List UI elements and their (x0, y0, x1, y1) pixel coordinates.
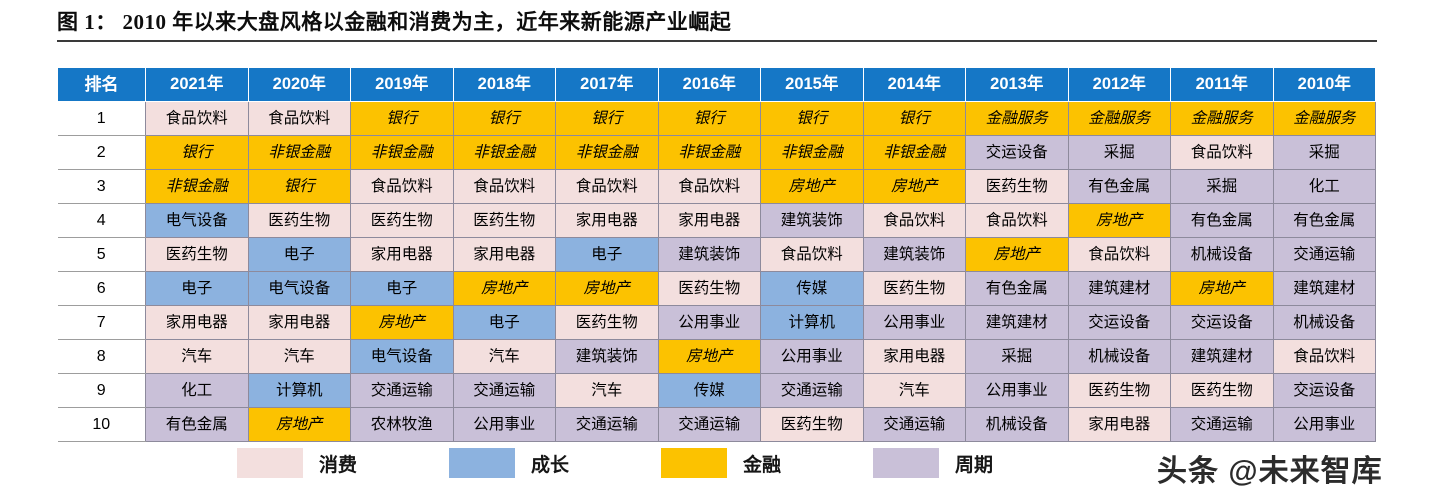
legend-item-finance: 金融 (661, 448, 781, 478)
industry-cell: 计算机 (248, 374, 351, 408)
industry-cell: 房地产 (658, 340, 761, 374)
industry-cell: 化工 (1273, 170, 1376, 204)
rank-cell-7: 7 (58, 306, 146, 340)
industry-cell: 传媒 (761, 272, 864, 306)
table-row: 9化工计算机交通运输交通运输汽车传媒交通运输汽车公用事业医药生物医药生物交运设备 (58, 374, 1376, 408)
industry-cell: 交通运输 (863, 408, 966, 442)
industry-cell: 金融服务 (1171, 102, 1274, 136)
industry-cell: 交通运输 (1273, 238, 1376, 272)
industry-cell: 交通运输 (351, 374, 454, 408)
industry-cell: 电子 (248, 238, 351, 272)
industry-cell: 食品饮料 (453, 170, 556, 204)
industry-cell: 建筑装饰 (658, 238, 761, 272)
industry-cell: 交运设备 (1171, 306, 1274, 340)
industry-cell: 电气设备 (248, 272, 351, 306)
industry-cell: 交通运输 (761, 374, 864, 408)
industry-cell: 建筑装饰 (556, 340, 659, 374)
industry-cell: 电子 (556, 238, 659, 272)
watermark: 头条 @未来智库 (1157, 446, 1383, 490)
industry-cell: 有色金属 (966, 272, 1069, 306)
rank-cell-3: 3 (58, 170, 146, 204)
industry-cell: 有色金属 (1273, 204, 1376, 238)
industry-cell: 家用电器 (248, 306, 351, 340)
industry-cell: 房地产 (1068, 204, 1171, 238)
legend-item-growth: 成长 (449, 448, 569, 478)
industry-cell: 医药生物 (248, 204, 351, 238)
industry-cell: 银行 (453, 102, 556, 136)
industry-cell: 建筑装饰 (863, 238, 966, 272)
industry-cell: 房地产 (1171, 272, 1274, 306)
industry-cell: 医药生物 (1171, 374, 1274, 408)
industry-cell: 房地产 (966, 238, 1069, 272)
industry-cell: 电子 (146, 272, 249, 306)
industry-cell: 食品饮料 (146, 102, 249, 136)
industry-cell: 公用事业 (658, 306, 761, 340)
industry-cell: 银行 (863, 102, 966, 136)
legend-label-growth: 成长 (531, 450, 569, 477)
industry-cell: 汽车 (146, 340, 249, 374)
industry-cell: 房地产 (351, 306, 454, 340)
industry-cell: 医药生物 (453, 204, 556, 238)
industry-cell: 医药生物 (658, 272, 761, 306)
industry-cell: 非银金融 (453, 136, 556, 170)
industry-cell: 房地产 (453, 272, 556, 306)
industry-cell: 房地产 (248, 408, 351, 442)
industry-cell: 计算机 (761, 306, 864, 340)
industry-cell: 化工 (146, 374, 249, 408)
industry-cell: 医药生物 (761, 408, 864, 442)
rank-cell-8: 8 (58, 340, 146, 374)
table-header: 排名2021年2020年2019年2018年2017年2016年2015年201… (58, 68, 1376, 102)
figure-container: 图 1： 2010 年以来大盘风格以金融和消费为主，近年来新能源产业崛起 排名2… (0, 0, 1433, 494)
industry-cell: 医药生物 (863, 272, 966, 306)
industry-cell: 交运设备 (1273, 374, 1376, 408)
legend-swatch-finance (661, 448, 727, 478)
industry-cell: 食品饮料 (863, 204, 966, 238)
legend-label-cycle: 周期 (955, 450, 993, 477)
industry-cell: 医药生物 (1068, 374, 1171, 408)
column-header-year-2020: 2020年 (248, 68, 351, 102)
column-header-year-2018: 2018年 (453, 68, 556, 102)
column-header-year-2017: 2017年 (556, 68, 659, 102)
industry-cell: 公用事业 (453, 408, 556, 442)
industry-cell: 机械设备 (1171, 238, 1274, 272)
industry-cell: 传媒 (658, 374, 761, 408)
industry-cell: 非银金融 (863, 136, 966, 170)
industry-cell: 银行 (556, 102, 659, 136)
industry-cell: 家用电器 (556, 204, 659, 238)
industry-cell: 医药生物 (146, 238, 249, 272)
column-header-year-2010: 2010年 (1273, 68, 1376, 102)
industry-cell: 公用事业 (863, 306, 966, 340)
industry-cell: 汽车 (556, 374, 659, 408)
industry-cell: 食品饮料 (761, 238, 864, 272)
rank-cell-4: 4 (58, 204, 146, 238)
industry-cell: 食品饮料 (966, 204, 1069, 238)
industry-cell: 交通运输 (453, 374, 556, 408)
column-header-year-2021: 2021年 (146, 68, 249, 102)
industry-cell: 交通运输 (556, 408, 659, 442)
industry-cell: 家用电器 (863, 340, 966, 374)
industry-cell: 交运设备 (1068, 306, 1171, 340)
industry-cell: 非银金融 (761, 136, 864, 170)
table-header-row: 排名2021年2020年2019年2018年2017年2016年2015年201… (58, 68, 1376, 102)
industry-cell: 建筑建材 (1273, 272, 1376, 306)
industry-cell: 食品饮料 (658, 170, 761, 204)
industry-cell: 采掘 (1068, 136, 1171, 170)
industry-cell: 有色金属 (1171, 204, 1274, 238)
legend-item-cycle: 周期 (873, 448, 993, 478)
legend: 消费成长金融周期 (237, 448, 1085, 478)
figure-title-block: 图 1： 2010 年以来大盘风格以金融和消费为主，近年来新能源产业崛起 (57, 8, 1377, 42)
industry-cell: 家用电器 (453, 238, 556, 272)
legend-label-consume: 消费 (319, 450, 357, 477)
rank-cell-5: 5 (58, 238, 146, 272)
industry-cell: 银行 (351, 102, 454, 136)
table-row: 4电气设备医药生物医药生物医药生物家用电器家用电器建筑装饰食品饮料食品饮料房地产… (58, 204, 1376, 238)
industry-cell: 建筑建材 (966, 306, 1069, 340)
column-header-year-2011: 2011年 (1171, 68, 1274, 102)
industry-cell: 家用电器 (1068, 408, 1171, 442)
table-row: 1食品饮料食品饮料银行银行银行银行银行银行金融服务金融服务金融服务金融服务 (58, 102, 1376, 136)
industry-cell: 建筑装饰 (761, 204, 864, 238)
rank-cell-2: 2 (58, 136, 146, 170)
column-header-rank: 排名 (58, 68, 146, 102)
industry-cell: 非银金融 (351, 136, 454, 170)
industry-cell: 电子 (453, 306, 556, 340)
industry-cell: 医药生物 (966, 170, 1069, 204)
rank-cell-9: 9 (58, 374, 146, 408)
industry-cell: 电子 (351, 272, 454, 306)
legend-item-consume: 消费 (237, 448, 357, 478)
industry-cell: 非银金融 (248, 136, 351, 170)
column-header-year-2014: 2014年 (863, 68, 966, 102)
industry-cell: 银行 (658, 102, 761, 136)
legend-swatch-cycle (873, 448, 939, 478)
table-row: 7家用电器家用电器房地产电子医药生物公用事业计算机公用事业建筑建材交运设备交运设… (58, 306, 1376, 340)
industry-cell: 银行 (248, 170, 351, 204)
industry-cell: 交通运输 (1171, 408, 1274, 442)
industry-cell: 有色金属 (1068, 170, 1171, 204)
rank-table-container: 排名2021年2020年2019年2018年2017年2016年2015年201… (57, 67, 1376, 442)
table-row: 10有色金属房地产农林牧渔公用事业交通运输交通运输医药生物交通运输机械设备家用电… (58, 408, 1376, 442)
industry-cell: 食品饮料 (1273, 340, 1376, 374)
industry-cell: 汽车 (248, 340, 351, 374)
figure-title: 图 1： 2010 年以来大盘风格以金融和消费为主，近年来新能源产业崛起 (57, 8, 1377, 36)
industry-cell: 采掘 (1273, 136, 1376, 170)
column-header-year-2015: 2015年 (761, 68, 864, 102)
column-header-year-2013: 2013年 (966, 68, 1069, 102)
industry-cell: 交通运输 (658, 408, 761, 442)
industry-cell: 房地产 (863, 170, 966, 204)
industry-cell: 家用电器 (146, 306, 249, 340)
industry-cell: 机械设备 (1273, 306, 1376, 340)
legend-swatch-consume (237, 448, 303, 478)
industry-cell: 农林牧渔 (351, 408, 454, 442)
industry-cell: 公用事业 (966, 374, 1069, 408)
industry-cell: 食品饮料 (1068, 238, 1171, 272)
industry-cell: 非银金融 (658, 136, 761, 170)
industry-cell: 金融服务 (966, 102, 1069, 136)
column-header-year-2012: 2012年 (1068, 68, 1171, 102)
industry-cell: 机械设备 (966, 408, 1069, 442)
column-header-year-2019: 2019年 (351, 68, 454, 102)
industry-cell: 有色金属 (146, 408, 249, 442)
industry-cell: 银行 (761, 102, 864, 136)
industry-cell: 电气设备 (146, 204, 249, 238)
industry-cell: 电气设备 (351, 340, 454, 374)
industry-cell: 采掘 (1171, 170, 1274, 204)
title-divider (57, 40, 1377, 42)
column-header-year-2016: 2016年 (658, 68, 761, 102)
industry-cell: 房地产 (556, 272, 659, 306)
industry-cell: 银行 (146, 136, 249, 170)
industry-cell: 家用电器 (351, 238, 454, 272)
rank-cell-6: 6 (58, 272, 146, 306)
industry-cell: 采掘 (966, 340, 1069, 374)
industry-cell: 家用电器 (658, 204, 761, 238)
rank-cell-1: 1 (58, 102, 146, 136)
legend-swatch-growth (449, 448, 515, 478)
industry-rank-table: 排名2021年2020年2019年2018年2017年2016年2015年201… (57, 67, 1376, 442)
industry-cell: 食品饮料 (1171, 136, 1274, 170)
industry-cell: 机械设备 (1068, 340, 1171, 374)
industry-cell: 食品饮料 (556, 170, 659, 204)
industry-cell: 医药生物 (351, 204, 454, 238)
industry-cell: 非银金融 (146, 170, 249, 204)
industry-cell: 金融服务 (1068, 102, 1171, 136)
table-row: 6电子电气设备电子房地产房地产医药生物传媒医药生物有色金属建筑建材房地产建筑建材 (58, 272, 1376, 306)
industry-cell: 建筑建材 (1068, 272, 1171, 306)
industry-cell: 食品饮料 (248, 102, 351, 136)
industry-cell: 汽车 (453, 340, 556, 374)
industry-cell: 食品饮料 (351, 170, 454, 204)
industry-cell: 公用事业 (761, 340, 864, 374)
table-row: 5医药生物电子家用电器家用电器电子建筑装饰食品饮料建筑装饰房地产食品饮料机械设备… (58, 238, 1376, 272)
industry-cell: 非银金融 (556, 136, 659, 170)
rank-cell-10: 10 (58, 408, 146, 442)
table-row: 8汽车汽车电气设备汽车建筑装饰房地产公用事业家用电器采掘机械设备建筑建材食品饮料 (58, 340, 1376, 374)
table-row: 2银行非银金融非银金融非银金融非银金融非银金融非银金融非银金融交运设备采掘食品饮… (58, 136, 1376, 170)
table-row: 3非银金融银行食品饮料食品饮料食品饮料食品饮料房地产房地产医药生物有色金属采掘化… (58, 170, 1376, 204)
industry-cell: 汽车 (863, 374, 966, 408)
legend-label-finance: 金融 (743, 450, 781, 477)
table-body: 1食品饮料食品饮料银行银行银行银行银行银行金融服务金融服务金融服务金融服务2银行… (58, 102, 1376, 442)
industry-cell: 房地产 (761, 170, 864, 204)
industry-cell: 公用事业 (1273, 408, 1376, 442)
industry-cell: 医药生物 (556, 306, 659, 340)
industry-cell: 交运设备 (966, 136, 1069, 170)
industry-cell: 金融服务 (1273, 102, 1376, 136)
industry-cell: 建筑建材 (1171, 340, 1274, 374)
